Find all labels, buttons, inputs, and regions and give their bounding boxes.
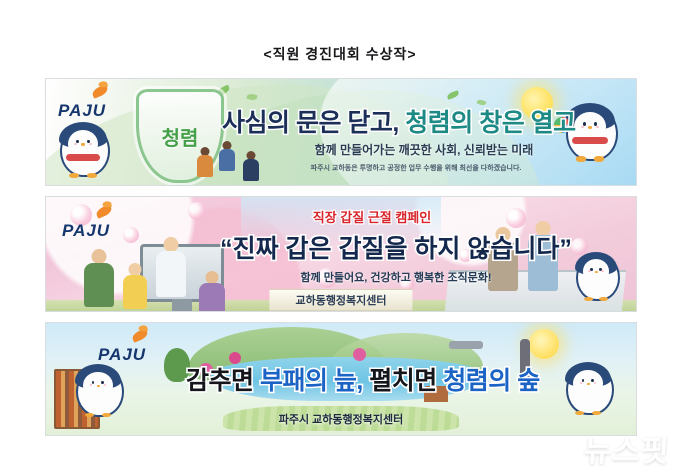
banner-1-artwork: PAJU 청렴 bbox=[46, 79, 636, 185]
mascot-beak-icon bbox=[97, 385, 100, 387]
headline-segment-2: 부패의 늪, bbox=[254, 367, 363, 395]
sun-icon bbox=[529, 329, 559, 359]
person-child-icon bbox=[124, 263, 146, 309]
banner-cheongryeom[interactable]: PAJU 청렴 bbox=[45, 78, 637, 186]
paju-bird-icon bbox=[91, 84, 109, 98]
flower-icon bbox=[353, 348, 366, 361]
banner-1-headline: 사심의 문은 닫고, 청렴의 창은 열고 bbox=[222, 103, 626, 139]
screenshot-root: <직원 경진대회 수상작> PAJU bbox=[0, 0, 680, 476]
mascot-cheek-icon bbox=[588, 270, 590, 272]
page-title: <직원 경진대회 수상작> bbox=[0, 44, 680, 64]
banner-2-organization: 교하동행정복지센터 bbox=[269, 289, 412, 311]
paju-bird-icon bbox=[131, 328, 149, 342]
mascot-cheek-icon bbox=[89, 143, 92, 145]
headline-segment-3: 펼치면 bbox=[363, 367, 437, 395]
mascot-cheek-icon bbox=[74, 143, 77, 145]
paju-mascot-left bbox=[76, 365, 120, 413]
banner-3-artwork: PAJU bbox=[46, 323, 636, 435]
headline-segment-4: 청렴의 숲 bbox=[437, 367, 540, 395]
news-watermark: 뉴스핏 bbox=[583, 426, 672, 470]
banner-cheongryeom-forest[interactable]: PAJU bbox=[45, 322, 637, 436]
person-head-icon bbox=[164, 237, 179, 252]
headline-segment-1: 사심의 문은 닫고, bbox=[222, 109, 399, 137]
paju-logo: PAJU bbox=[62, 207, 132, 241]
mascot-beak-icon bbox=[81, 143, 85, 146]
mascot-beak-icon bbox=[595, 271, 598, 273]
person-body-icon bbox=[84, 263, 114, 307]
person-staff-icon bbox=[158, 237, 184, 297]
person-body-icon bbox=[199, 283, 225, 311]
person-body-icon bbox=[156, 251, 186, 297]
mascot-cheek-icon bbox=[90, 384, 93, 386]
mascot-face-icon bbox=[83, 372, 112, 399]
banner-2-kicker: 직장 갑질 근절 캠페인 bbox=[222, 207, 522, 226]
mascot-cheek-icon bbox=[601, 270, 603, 272]
mascot-foot-icon bbox=[599, 297, 608, 301]
mascot-scarf-icon bbox=[66, 154, 101, 161]
banner-2-artwork: PAJU bbox=[46, 197, 636, 311]
paju-bird-icon bbox=[95, 204, 113, 218]
person-head-icon bbox=[92, 249, 107, 264]
paju-mascot-left bbox=[60, 123, 106, 173]
person-body-icon bbox=[123, 275, 147, 309]
banner-1-footnote: 파주시 교하동은 투명하고 공정한 업무 수행을 위해 최선을 다하겠습니다. bbox=[196, 163, 636, 173]
mascot-foot-icon bbox=[69, 173, 79, 178]
banner-2-subtitle: 함께 만들어요, 건강하고 행복한 조직문화! bbox=[206, 269, 586, 285]
cherry-blossom-icon bbox=[188, 202, 206, 220]
paju-wordmark: PAJU bbox=[62, 221, 110, 241]
banner-3-organization: 파주시 교하동행정복지센터 bbox=[46, 411, 636, 427]
bridge-icon bbox=[449, 341, 483, 349]
banner-gapjil[interactable]: PAJU bbox=[45, 196, 637, 312]
headline-segment-2: 청렴의 창은 열고 bbox=[399, 109, 576, 137]
headline-segment-1: 감추면 bbox=[186, 367, 254, 395]
banner-2-quote: “진짜 갑은 갑질을 하지 않습니다” bbox=[186, 229, 606, 265]
person-elderly-icon bbox=[86, 249, 112, 307]
banner-3-headline: 감추면 부패의 늪, 펼치면 청렴의 숲 bbox=[186, 361, 626, 397]
mascot-foot-icon bbox=[87, 173, 97, 178]
banner-1-subtitle: 함께 만들어가는 깨끗한 사회, 신뢰받는 미래 bbox=[222, 141, 626, 158]
paju-wordmark: PAJU bbox=[98, 345, 146, 365]
shield-label: 청렴 bbox=[162, 122, 199, 151]
paju-wordmark: PAJU bbox=[58, 101, 106, 121]
paju-logo: PAJU bbox=[58, 87, 128, 121]
mascot-eye-icon bbox=[92, 381, 95, 384]
mascot-foot-icon bbox=[584, 297, 593, 301]
paju-logo: PAJU bbox=[98, 331, 168, 365]
mascot-cheek-icon bbox=[104, 384, 107, 386]
